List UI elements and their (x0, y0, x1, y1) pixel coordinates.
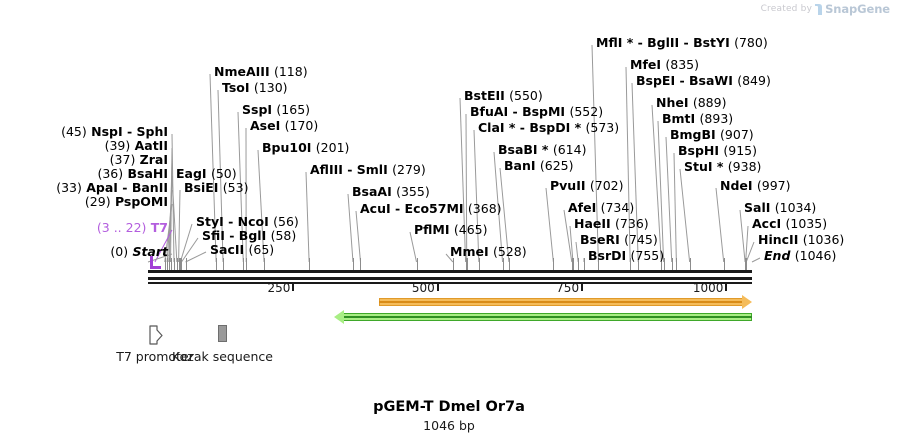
leader-line-bsahi (169, 176, 172, 262)
plasmid-length: 1046 bp (0, 418, 898, 433)
ruler-tick (437, 282, 439, 291)
enzyme-label-mfei[interactable]: MfeI (835) (630, 58, 699, 71)
enzyme-label-nspi-sphi[interactable]: (45) NspI - SphI (61, 125, 168, 138)
enzyme-label-bmti[interactable]: BmtI (893) (662, 112, 733, 125)
leader-line-bfuai-bspmi (466, 114, 467, 262)
feature-stem (343, 316, 752, 318)
enzyme-label-clai-bspdi[interactable]: ClaI * - BspDI * (573) (478, 121, 619, 134)
ruler-tick (725, 282, 727, 291)
ruler-tick-label: 250 (267, 281, 292, 295)
enzyme-label-bsabi[interactable]: BsaBI * (614) (498, 143, 586, 156)
enzyme-label-bsphi[interactable]: BspHI (915) (678, 144, 757, 157)
leader-line-sfii-bgli (181, 238, 198, 262)
leader-line-eagi (172, 176, 177, 262)
watermark-prefix: Created by (761, 4, 813, 14)
enzyme-label-stui[interactable]: StuI * (938) (684, 160, 761, 173)
enzyme-label-bpu10i[interactable]: Bpu10I (201) (262, 141, 349, 154)
enzyme-label-pflmi[interactable]: PflMI (465) (414, 223, 488, 236)
enzyme-label-t7-promoter-label[interactable]: (3 .. 22) T7 (97, 221, 168, 234)
leader-line-nspi-sphi (172, 134, 174, 262)
legend-item-kozak-sequence: Kozak sequence (218, 325, 227, 342)
enzyme-label-afei[interactable]: AfeI (734) (568, 201, 634, 214)
feature-arrowhead-right (742, 295, 752, 309)
enzyme-label-mmei[interactable]: MmeI (528) (450, 245, 527, 258)
plasmid-title-block: pGEM-T Dmel Or7a 1046 bp (0, 399, 898, 433)
enzyme-label-bsaai[interactable]: BsaAI (355) (352, 185, 430, 198)
enzyme-label-end[interactable]: End (1046) (764, 249, 836, 262)
leader-line-bsaai (348, 194, 353, 262)
enzyme-label-styi-ncoi[interactable]: StyI - NcoI (56) (196, 215, 299, 228)
enzyme-label-aflii-smli[interactable]: AflIII - SmlI (279) (310, 163, 426, 176)
enzyme-label-pspomi[interactable]: (29) PspOMI (85, 195, 168, 208)
leader-line-hincii (746, 242, 754, 262)
enzyme-label-bmgbi[interactable]: BmgBI (907) (670, 128, 754, 141)
enzyme-label-bsahi[interactable]: (36) BsaHI (97, 167, 168, 180)
enzyme-label-ndei[interactable]: NdeI (997) (720, 179, 791, 192)
backbone-bottom-strand (148, 277, 752, 280)
enzyme-label-sacii[interactable]: SacII (65) (210, 243, 274, 256)
enzyme-label-bseri[interactable]: BseRI (745) (580, 233, 658, 246)
leader-line-sali (740, 210, 745, 262)
leader-line-aflii-smli (306, 172, 309, 262)
feature-stem (379, 301, 743, 303)
ruler-line (148, 282, 752, 284)
enzyme-label-bsiei[interactable]: BsiEI (53) (184, 181, 248, 194)
leader-line-sacii (186, 252, 206, 262)
enzyme-label-hincii[interactable]: HincII (1036) (758, 233, 844, 246)
ruler-tick (292, 282, 294, 291)
ruler-tick-label: 500 (412, 281, 437, 295)
enzyme-label-bani[interactable]: BanI (625) (504, 159, 574, 172)
plasmid-map-canvas: Created by SnapGene 2505007501000 (45) N… (0, 0, 898, 439)
ruler-tick-label: 750 (556, 281, 581, 295)
enzyme-label-asei[interactable]: AseI (170) (250, 119, 318, 132)
enzyme-label-sfii-bgli[interactable]: SfiI - BglI (58) (202, 229, 296, 242)
leader-line-bsiei (179, 190, 180, 262)
enzyme-label-sali[interactable]: SalI (1034) (744, 201, 816, 214)
enzyme-label-eagi[interactable]: EagI (50) (176, 167, 237, 180)
enzyme-label-bsrdi[interactable]: BsrDI (755) (588, 249, 664, 262)
leader-line-zrai (169, 162, 172, 262)
plasmid-name: pGEM-T Dmel Or7a (0, 399, 898, 415)
snapgene-watermark: Created by SnapGene (761, 2, 890, 16)
enzyme-label-mfli-bglii-bstyi[interactable]: MflI * - BglII - BstYI (780) (596, 36, 768, 49)
enzyme-label-acui-eco57mi[interactable]: AcuI - Eco57MI (368) (360, 202, 502, 215)
feature-arrowhead-left (334, 310, 344, 324)
orange-feature (379, 298, 743, 306)
enzyme-label-start[interactable]: (0) Start (110, 245, 168, 258)
enzyme-label-haeii[interactable]: HaeII (736) (574, 217, 649, 230)
enzyme-label-zrai[interactable]: (37) ZraI (110, 153, 168, 166)
backbone-top-strand (148, 270, 752, 273)
leader-line-pvuii (546, 188, 553, 262)
promoter-arrow-icon (148, 325, 162, 343)
enzyme-label-aatii[interactable]: (39) AatII (105, 139, 168, 152)
leader-line-aatii (171, 148, 172, 262)
leader-line-acci (746, 226, 748, 262)
enzyme-label-acci[interactable]: AccI (1035) (752, 217, 827, 230)
leader-line-stui (680, 169, 690, 262)
leader-line-bmti (658, 121, 664, 262)
watermark-brand: SnapGene (825, 2, 890, 16)
leader-line-styi-ncoi (180, 224, 192, 262)
enzyme-label-nhei[interactable]: NheI (889) (656, 96, 726, 109)
kozak-box-icon (218, 325, 227, 342)
legend-item-t7-promoter: T7 promoter (148, 325, 162, 343)
snapgene-logo-icon (815, 4, 822, 15)
enzyme-label-bspei-bsawi[interactable]: BspEI - BsaWI (849) (636, 74, 771, 87)
enzyme-label-pvuii[interactable]: PvuII (702) (550, 179, 624, 192)
enzyme-label-bfuai-bspmi[interactable]: BfuAI - BspMI (552) (470, 105, 603, 118)
enzyme-label-sspi[interactable]: SspI (165) (242, 103, 310, 116)
enzyme-label-nmeaiii[interactable]: NmeAIII (118) (214, 65, 308, 78)
leader-line-end (752, 258, 760, 262)
enzyme-label-bstei[interactable]: BstEII (550) (464, 89, 543, 102)
leader-line-clai-bspdi (474, 130, 479, 262)
green-feature (343, 313, 752, 321)
leader-line-bmgbi (666, 137, 672, 262)
leader-line-bsphi (674, 153, 676, 262)
leader-line-bstei (460, 98, 466, 262)
leader-line-haeii (570, 226, 573, 262)
enzyme-label-apai-banii[interactable]: (33) ApaI - BanII (56, 181, 168, 194)
legend-label-kozak-sequence: Kozak sequence (172, 349, 273, 364)
enzyme-label-tsoi[interactable]: TsoI (130) (222, 81, 288, 94)
leader-line-ndei (716, 188, 724, 262)
ruler-tick-label: 1000 (693, 281, 726, 295)
ruler-tick (581, 282, 583, 291)
leader-line-afei (564, 210, 572, 262)
leader-line-acui-eco57mi (356, 211, 360, 262)
